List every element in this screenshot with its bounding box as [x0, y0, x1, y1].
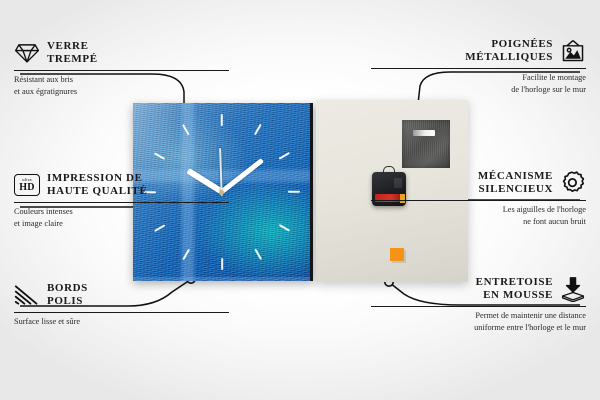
- callout-description: Permet de maintenir une distance uniform…: [371, 310, 586, 332]
- hanger-slot: [413, 130, 435, 136]
- divider: [371, 200, 586, 202]
- callout-bords-polis: BORDS POLIS Surface lisse et sûre: [14, 282, 229, 328]
- diagonal-lines-icon: [14, 282, 40, 308]
- tick-mark: [220, 258, 222, 270]
- tick-mark: [253, 124, 261, 136]
- callout-entretoise-en-mousse: ENTRETOISE EN MOUSSE Permet de maintenir…: [371, 276, 586, 333]
- callout-title: IMPRESSION DE HAUTE QUALITÉ: [47, 172, 147, 199]
- gear-icon: [560, 170, 586, 196]
- divider: [14, 312, 229, 314]
- tick-mark: [278, 224, 290, 232]
- callout-title: BORDS POLIS: [47, 282, 88, 309]
- product-infographic: VERRE TREMPÉ Résistant aux bris et aux é…: [0, 0, 600, 400]
- badge-hd-label: HD: [19, 183, 35, 193]
- callout-verre-trempe: VERRE TREMPÉ Résistant aux bris et aux é…: [14, 40, 229, 97]
- callout-title: POIGNÉES MÉTALLIQUES: [465, 38, 553, 65]
- callout-description: Surface lisse et sûre: [14, 316, 229, 327]
- divider: [14, 202, 229, 204]
- callout-title: MÉCANISME SILENCIEUX: [478, 170, 553, 197]
- callout-description: Les aiguilles de l'horloge ne font aucun…: [371, 204, 586, 226]
- callout-title: VERRE TREMPÉ: [47, 40, 98, 67]
- foam-spacer: [390, 248, 404, 261]
- divider: [371, 68, 586, 70]
- hanging-picture-frame-icon: [560, 38, 586, 64]
- callout-title: ENTRETOISE EN MOUSSE: [476, 276, 553, 303]
- arrow-down-onto-pad-icon: [560, 276, 586, 302]
- metal-hanger-plate: [402, 120, 450, 168]
- divider: [14, 70, 229, 72]
- ultra-hd-badge-icon: ultra HD: [14, 174, 40, 196]
- diamond-icon: [14, 40, 40, 66]
- callout-description: Facilite le montage de l'horloge sur le …: [371, 72, 586, 94]
- tick-mark: [153, 152, 165, 160]
- tick-mark: [220, 114, 222, 126]
- callout-mecanisme-silencieux: MÉCANISME SILENCIEUX Les aiguilles de l'…: [371, 170, 586, 227]
- callout-poignees-metalliques: POIGNÉES MÉTALLIQUES Facilite le montage…: [371, 38, 586, 95]
- divider: [371, 306, 586, 308]
- callout-description: Couleurs intenses et image claire: [14, 206, 229, 228]
- tick-mark: [181, 124, 189, 136]
- tick-mark: [181, 249, 189, 261]
- callout-description: Résistant aux bris et aux égratignures: [14, 74, 229, 96]
- tick-mark: [253, 249, 261, 261]
- callout-impression-haute-qualite: ultra HD IMPRESSION DE HAUTE QUALITÉ Cou…: [14, 172, 229, 229]
- tick-mark: [278, 152, 290, 160]
- tick-mark: [288, 191, 300, 193]
